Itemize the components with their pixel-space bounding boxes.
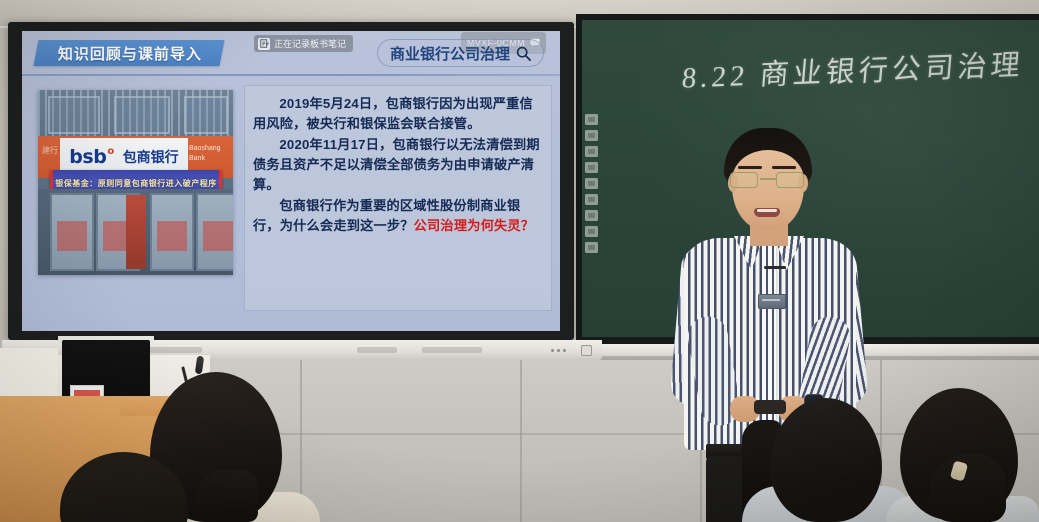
header-divider (22, 74, 560, 76)
news-ticker-text: 银保基金：原则同意包商银行进入破产程序 (55, 178, 217, 189)
recording-status-badge: 正在记录板书笔记 (254, 35, 353, 52)
screenshot-thumbnail-icon[interactable] (585, 226, 598, 237)
classroom-scene: 8.22 商业银行公司治理 知识回顾与课前导入 (0, 0, 1039, 522)
slide-paragraph: 2019年5月24日，包商银行因为出现严重信用风险，被央行和银保监会联合接管。 (253, 94, 543, 134)
slide-body: 建行 bsb o 包商银行 Baoshang Bank (22, 83, 560, 313)
blackboard-chalk-text: 8.22 商业银行公司治理 (680, 41, 1025, 96)
bank-logo-superscript: o (107, 146, 113, 157)
eyeglasses-icon (730, 172, 808, 188)
panel-indicator-lights (551, 349, 566, 352)
interactive-flat-panel[interactable]: 知识回顾与课前导入 正在记录板书笔记 MVXF (8, 22, 574, 340)
recording-status-label: 正在记录板书笔记 (274, 37, 346, 50)
search-query-text[interactable]: 商业银行公司治理 (390, 43, 510, 64)
id-badge (758, 294, 786, 309)
bank-name-cn: 包商银行 (123, 147, 179, 167)
bank-name-en-line2: Bank (189, 154, 227, 164)
screenshot-thumbnail-icon[interactable] (585, 194, 598, 205)
panel-screen[interactable]: 知识回顾与课前导入 正在记录板书笔记 MVXF (22, 31, 560, 331)
screenshot-thumbnail-icon[interactable] (585, 178, 598, 189)
lanyard-icon (764, 266, 786, 269)
presentation-slide: 知识回顾与课前导入 正在记录板书笔记 MVXF (22, 31, 560, 331)
bank-entrance-doors (38, 189, 233, 275)
screenshot-thumbnail-icon-column[interactable] (585, 114, 598, 253)
slide-title-chip: 知识回顾与课前导入 (33, 40, 224, 66)
note-pen-icon (258, 38, 270, 50)
slide-search-field[interactable]: 商业银行公司治理 (377, 39, 544, 67)
screenshot-thumbnail-icon[interactable] (585, 114, 598, 125)
bank-storefront-photo: 建行 bsb o 包商银行 Baoshang Bank (38, 90, 233, 275)
slide-text-block: 2019年5月24日，包商银行因为出现严重信用风险，被央行和银保监会联合接管。 … (244, 85, 552, 311)
slide-paragraph: 2020年11月17日，包商银行以无法清偿到期债务且资产不足以清偿全部债务为由申… (253, 135, 543, 195)
slide-paragraph-question: 包商银行作为重要的区域性股份制商业银行，为什么会走到这一步？公司治理为何失灵？ (253, 196, 543, 236)
bank-logo-text: bsb (69, 146, 106, 168)
bank-name-en-line1: Baoshang (189, 144, 227, 154)
student-ponytail (930, 454, 1006, 522)
student-ponytail (196, 470, 258, 522)
screenshot-thumbnail-icon[interactable] (585, 210, 598, 221)
slide-title: 知识回顾与课前导入 (58, 43, 202, 64)
presentation-clicker[interactable] (754, 400, 786, 414)
slide-header: 知识回顾与课前导入 正在记录板书笔记 MVXF (22, 31, 560, 75)
teacher-face (732, 150, 804, 230)
screenshot-thumbnail-icon[interactable] (585, 146, 598, 157)
screenshot-thumbnail-icon[interactable] (585, 130, 598, 141)
question-highlight: 公司治理为何失灵？ (414, 218, 535, 233)
panel-power-button[interactable] (581, 345, 592, 356)
screenshot-thumbnail-icon[interactable] (585, 242, 598, 253)
screenshot-thumbnail-icon[interactable] (585, 162, 598, 173)
sign-left-text: 建行 (42, 146, 58, 155)
search-icon[interactable] (516, 46, 531, 61)
